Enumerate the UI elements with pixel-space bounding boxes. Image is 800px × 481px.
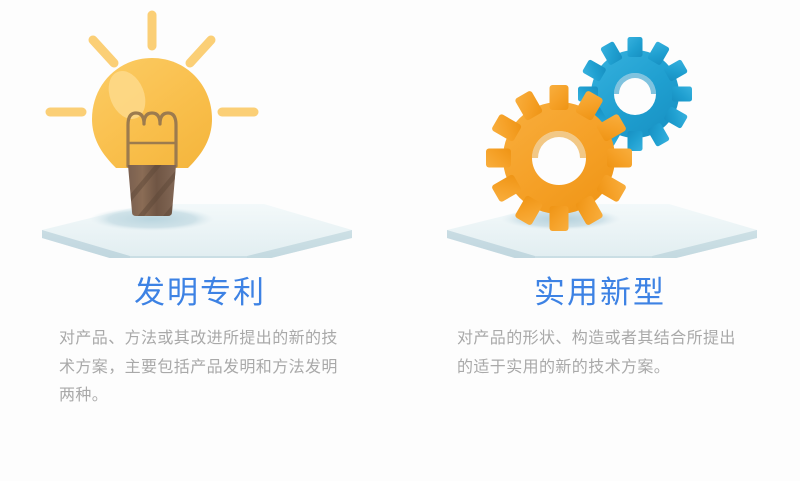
patent-types-section: 发明专利 对产品、方法或其改进所提出的新的技术方案，主要包括产品发明和方法发明两… [0,0,800,481]
card-description: 对产品的形状、构造或者其结合所提出的适于实用的新的技术方案。 [457,324,743,381]
card-title: 实用新型 [534,276,666,310]
cards-container: 发明专利 对产品、方法或其改进所提出的新的技术方案，主要包括产品发明和方法发明两… [0,0,800,481]
lightbulb-illustration-wrapper [32,8,362,258]
card-invention-patent[interactable]: 发明专利 对产品、方法或其改进所提出的新的技术方案，主要包括产品发明和方法发明两… [0,8,400,481]
card-description: 对产品、方法或其改进所提出的新的技术方案，主要包括产品发明和方法发明两种。 [59,324,341,410]
card-title: 发明专利 [134,276,266,310]
gears-icon [439,8,769,258]
gears-illustration-wrapper [439,8,769,258]
lightbulb-icon [32,8,362,258]
card-utility-model[interactable]: 实用新型 对产品的形状、构造或者其结合所提出的适于实用的新的技术方案。 [400,8,800,481]
